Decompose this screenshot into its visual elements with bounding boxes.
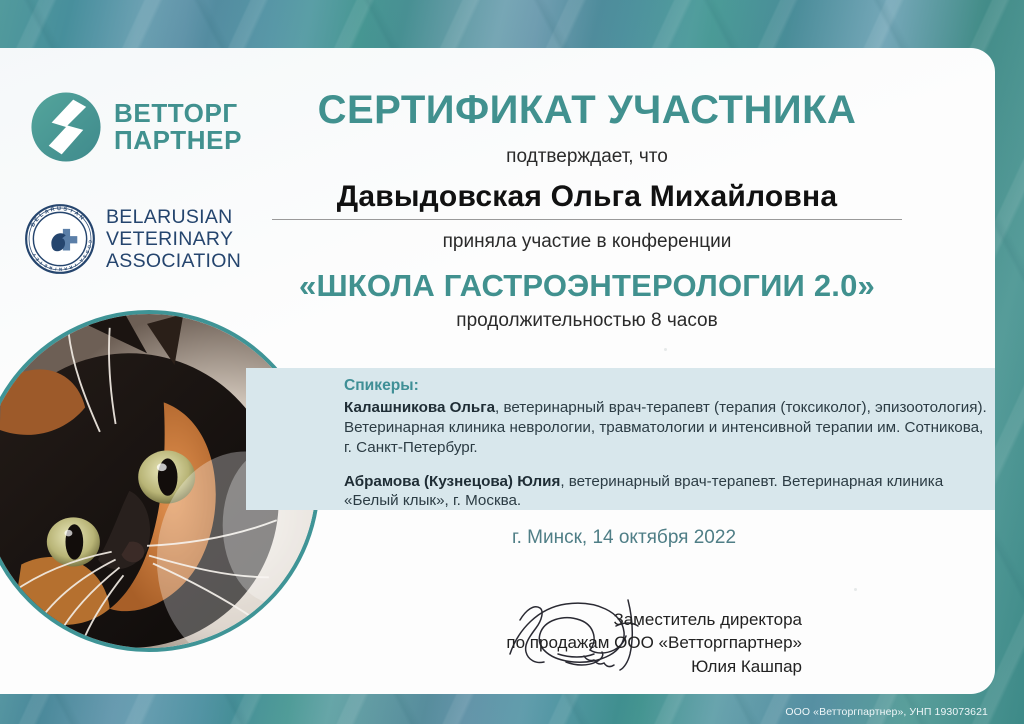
- signer-role-line-1: Заместитель директора: [442, 608, 802, 631]
- participation-line: принялa участие в конференции: [272, 231, 902, 253]
- bva-line-3: ASSOCIATION: [106, 250, 241, 272]
- speaker-name: Абрамова (Кузнецова) Юлия: [344, 473, 560, 490]
- vettorg-partner-logo: ВЕТТОРГ ПАРТНЕР: [30, 88, 265, 166]
- vettorg-wordmark: ВЕТТОРГ ПАРТНЕР: [114, 100, 242, 153]
- scan-speck: [664, 348, 667, 351]
- name-underline-rule: [272, 219, 902, 220]
- svg-text:N: N: [59, 267, 62, 272]
- signer-name: Юлия Кашпар: [442, 655, 802, 678]
- speaker-name: Калашникова Ольга: [344, 399, 495, 416]
- svg-text:U: U: [57, 206, 61, 212]
- bva-seal-icon: B E L A R U S I A N V E T E R I N A R: [24, 203, 96, 275]
- bva-wordmark: BELARUSIAN VETERINARY ASSOCIATION: [106, 206, 241, 273]
- speaker-entry: Абрамова (Кузнецова) Юлия, ветеринарный …: [344, 472, 989, 512]
- place-and-date: г. Минск, 14 октября 2022: [344, 527, 904, 549]
- certificate-title: СЕРТИФИКАТ УЧАСТНИКА: [272, 88, 902, 133]
- vettorg-line-1: ВЕТТОРГ: [114, 100, 242, 127]
- vettorg-circle-mark-icon: [30, 91, 102, 163]
- svg-text:C: C: [88, 240, 93, 244]
- certificate-page: ВЕТТОРГ ПАРТНЕР B E L A R U S I A N: [0, 0, 1024, 724]
- bva-line-2: VETERINARY: [106, 228, 241, 250]
- recipient-name: Давыдовская Ольга Михайловна: [272, 180, 902, 214]
- signer-role-line-2: по продажам ООО «Ветторгпартнер»: [442, 631, 802, 654]
- event-name: «ШКОЛА ГАСТРОЭНТЕРОЛОГИИ 2.0»: [242, 268, 932, 304]
- duration-line: продолжительностью 8 часов: [272, 310, 902, 332]
- bva-line-1: BELARUSIAN: [106, 206, 241, 228]
- footer-legal-text: ООО «Ветторгпартнер», УНП 193073621: [785, 706, 988, 718]
- confirms-line: подтверждает, что: [272, 146, 902, 168]
- speakers-content: Спикеры: Калашникова Ольга, ветеринарный…: [344, 376, 989, 511]
- signature-block: Заместитель директора по продажам ООО «В…: [442, 608, 802, 678]
- vettorg-line-2: ПАРТНЕР: [114, 127, 242, 154]
- speakers-heading: Спикеры:: [344, 376, 989, 396]
- belarusian-veterinary-association-logo: B E L A R U S I A N V E T E R I N A R: [24, 200, 264, 278]
- scan-speck: [854, 588, 857, 591]
- speaker-entry: Калашникова Ольга, ветеринарный врач-тер…: [344, 398, 989, 457]
